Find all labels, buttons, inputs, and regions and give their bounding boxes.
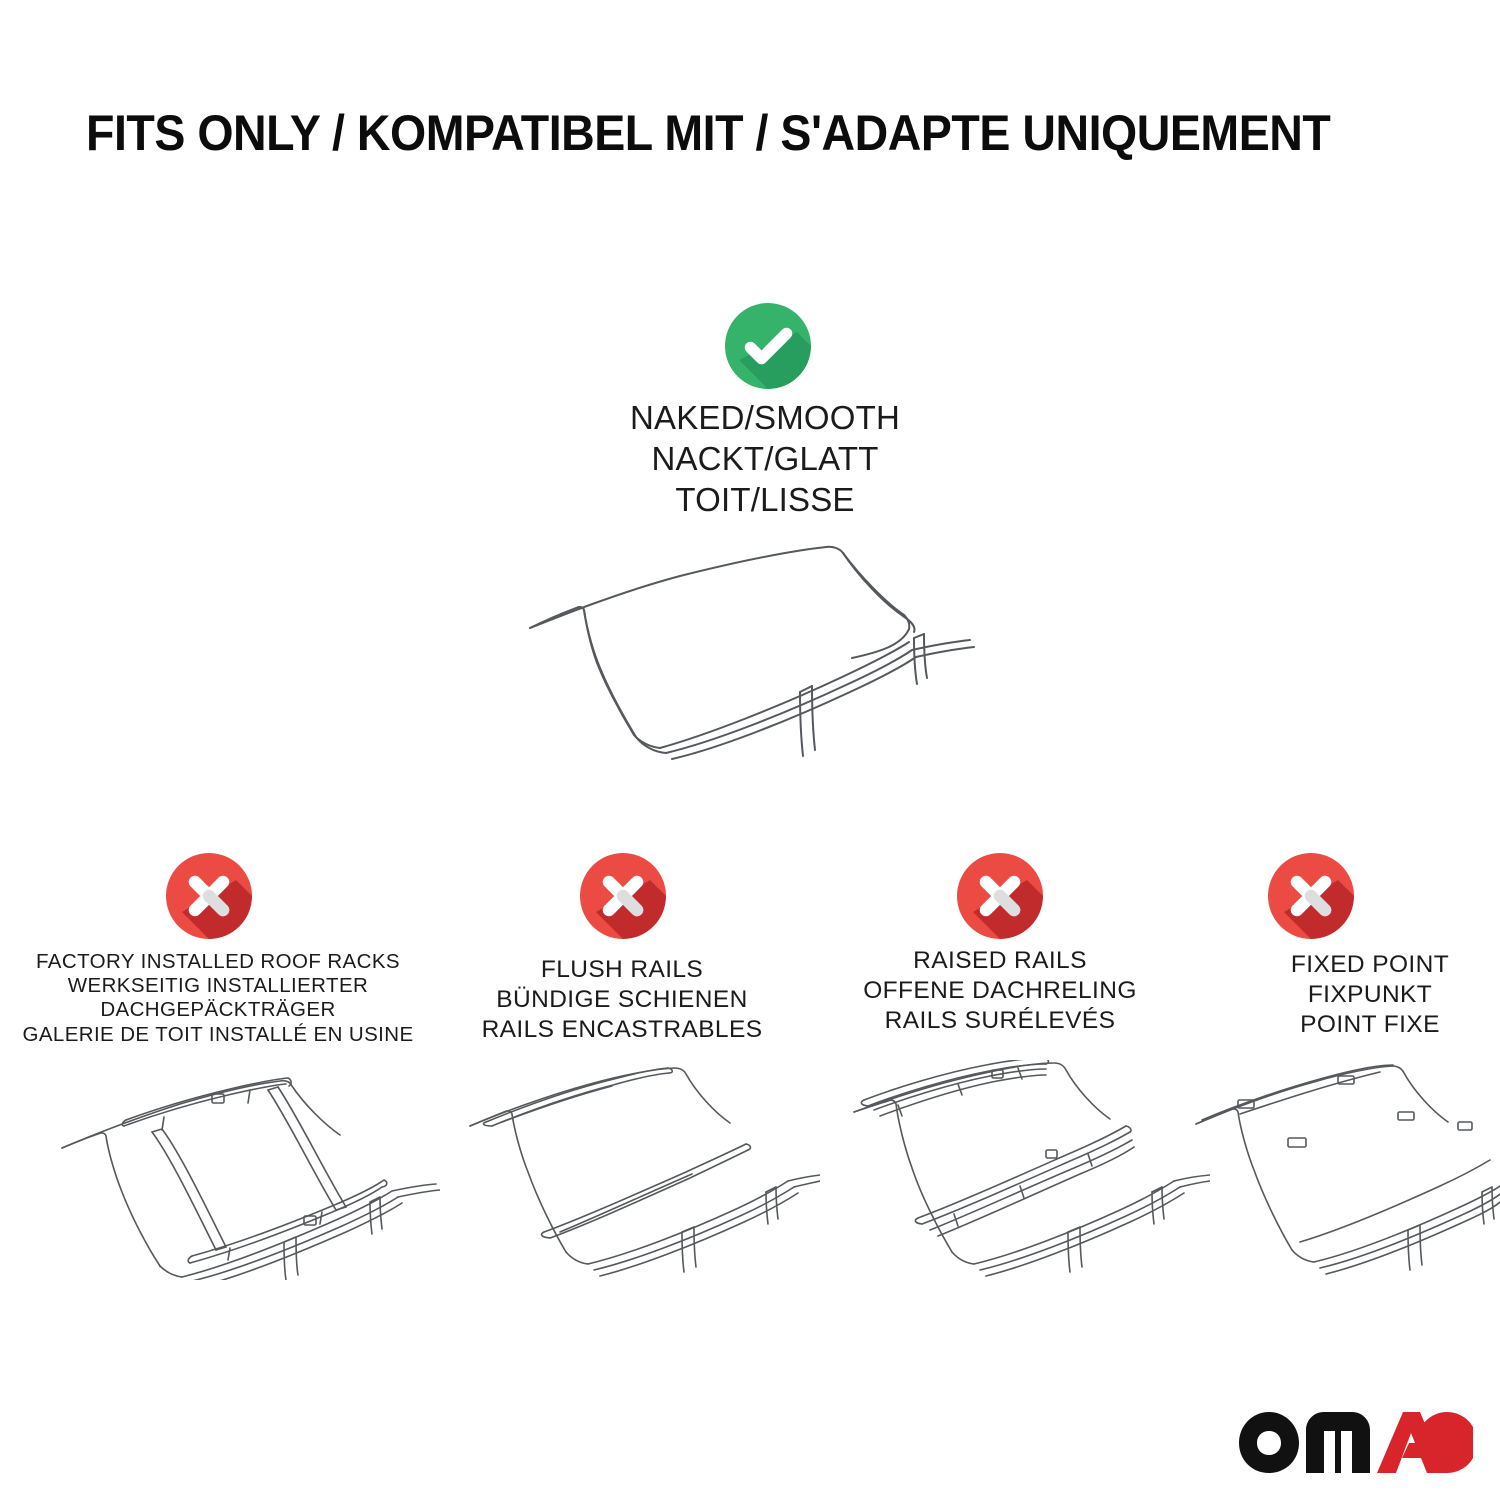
logo-letter-o bbox=[1239, 1412, 1299, 1473]
caption-line-3: DACHGEPÄCKTRÄGER bbox=[8, 998, 428, 1022]
incompatible-caption-raised-rails: RAISED RAILS OFFENE DACHRELING RAILS SUR… bbox=[810, 946, 1190, 1036]
compatible-line-2: NACKT/GLATT bbox=[465, 439, 1065, 480]
caption-line-2: WERKSEITIG INSTALLIERTER bbox=[8, 974, 428, 998]
caption-line-2: OFFENE DACHRELING bbox=[810, 976, 1190, 1006]
incompatible-caption-fixed-point: FIXED POINT FIXPUNKT POINT FIXE bbox=[1190, 950, 1500, 1040]
check-circle-icon bbox=[725, 303, 811, 389]
caption-line-1: FLUSH RAILS bbox=[432, 955, 812, 985]
car-roof-raised-rails-illustration bbox=[840, 1060, 1210, 1280]
caption-line-1: RAISED RAILS bbox=[810, 946, 1190, 976]
car-roof-naked-smooth-illustration bbox=[500, 520, 1020, 800]
x-circle-icon-raised-rails bbox=[957, 853, 1043, 939]
caption-line-3: RAILS SURÉLEVÉS bbox=[810, 1006, 1190, 1036]
incompatible-caption-factory-racks: FACTORY INSTALLED ROOF RACKS WERKSEITIG … bbox=[8, 950, 428, 1047]
incompatible-caption-flush-rails: FLUSH RAILS BÜNDIGE SCHIENEN RAILS ENCAS… bbox=[432, 955, 812, 1045]
compatible-caption: NAKED/SMOOTH NACKT/GLATT TOIT/LISSE bbox=[465, 398, 1065, 521]
page-title: FITS ONLY / KOMPATIBEL MIT / S'ADAPTE UN… bbox=[86, 108, 1332, 158]
caption-line-1: FIXED POINT bbox=[1190, 950, 1500, 980]
compatible-line-1: NAKED/SMOOTH bbox=[465, 398, 1065, 439]
logo-letter-m bbox=[1306, 1412, 1370, 1473]
car-roof-fixed-point-illustration bbox=[1180, 1060, 1500, 1280]
caption-line-1: FACTORY INSTALLED ROOF RACKS bbox=[8, 950, 428, 974]
caption-line-3: RAILS ENCASTRABLES bbox=[432, 1015, 812, 1045]
caption-line-4: GALERIE DE TOIT INSTALLÉ EN USINE bbox=[8, 1023, 428, 1047]
x-circle-icon-flush-rails bbox=[580, 853, 666, 939]
omac-logo bbox=[1238, 1410, 1474, 1474]
compatible-line-3: TOIT/LISSE bbox=[465, 480, 1065, 521]
logo-letter-c bbox=[1417, 1412, 1473, 1473]
x-circle-icon-fixed-point bbox=[1268, 853, 1354, 939]
caption-line-3: POINT FIXE bbox=[1190, 1010, 1500, 1040]
caption-line-2: BÜNDIGE SCHIENEN bbox=[432, 985, 812, 1015]
car-roof-factory-racks-illustration bbox=[40, 1060, 440, 1280]
car-roof-flush-rails-illustration bbox=[450, 1060, 820, 1280]
caption-line-2: FIXPUNKT bbox=[1190, 980, 1500, 1010]
x-circle-icon-factory-racks bbox=[166, 853, 252, 939]
